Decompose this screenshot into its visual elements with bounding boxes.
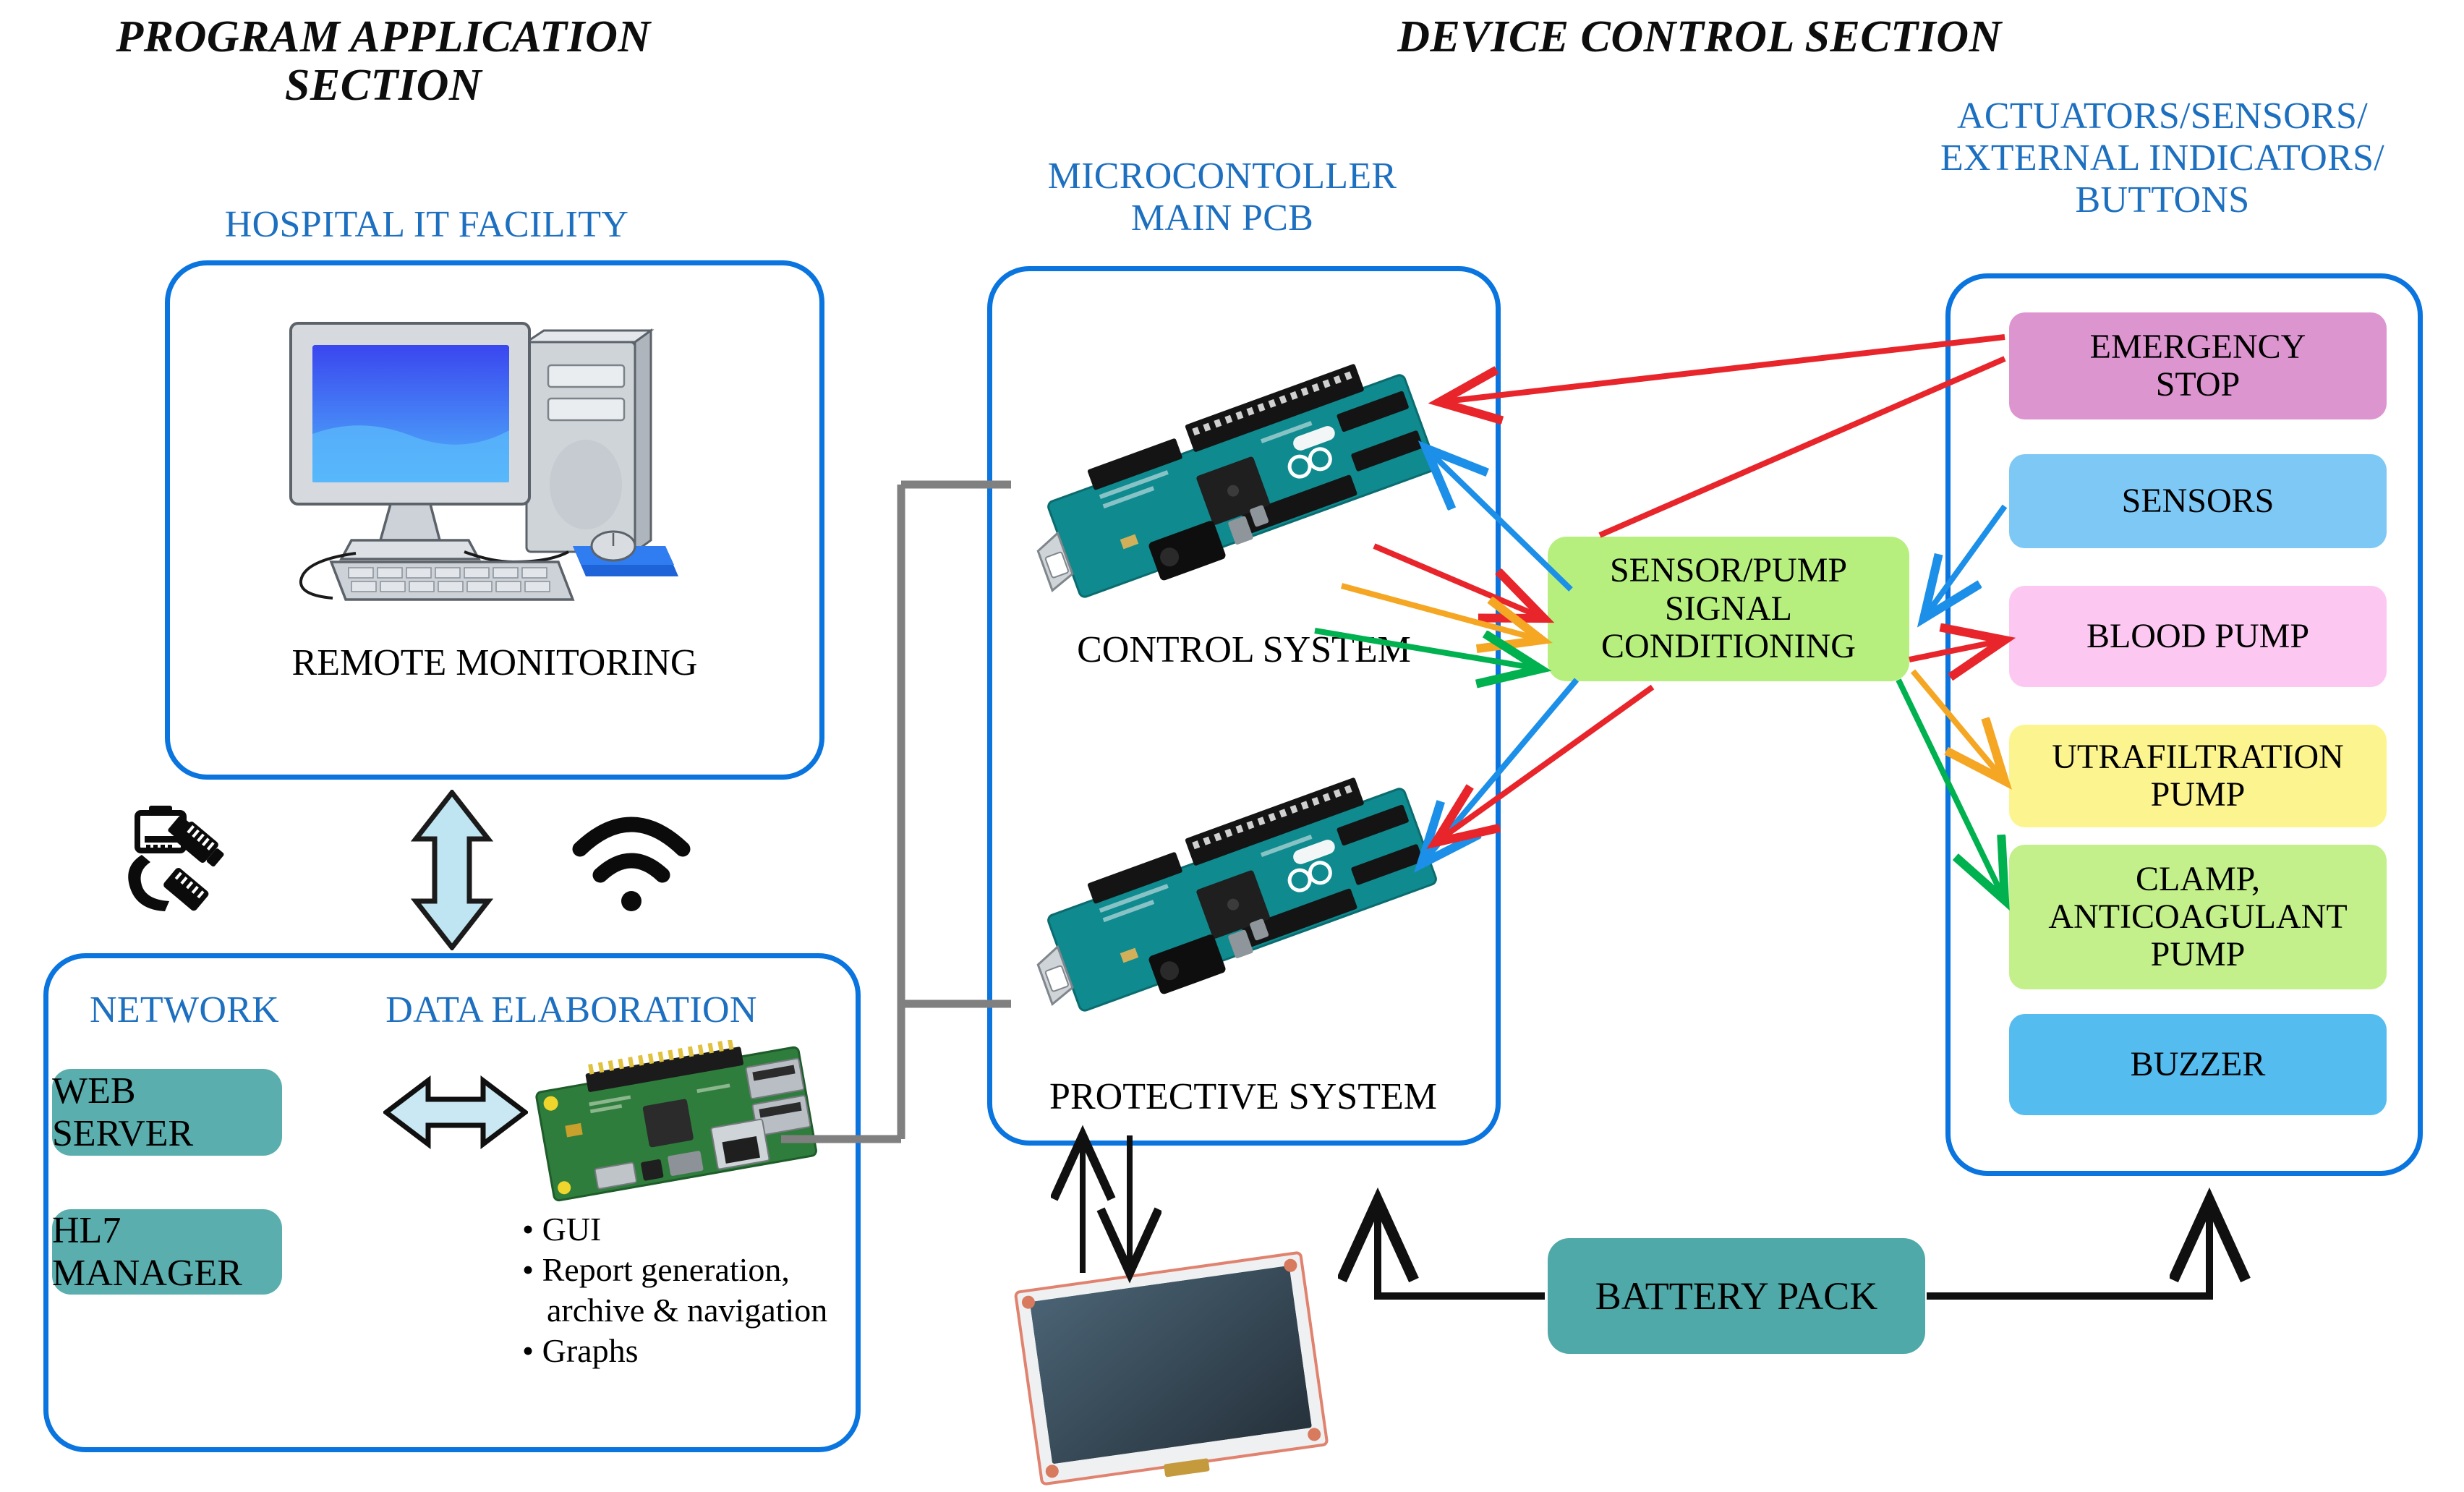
lcd-touchscreen-icon: [1009, 1251, 1334, 1490]
group-title-microcontroller-main-pcb: MICROCONTOLLER MAIN PCB: [962, 155, 1483, 239]
vertical-double-arrow-icon: [407, 790, 497, 950]
section-title-line-1: DEVICE CONTROL SECTION: [1287, 13, 2112, 61]
list-item-continuation: archive & navigation: [522, 1290, 855, 1331]
box-label-line-1: BLOOD PUMP: [2086, 618, 2309, 655]
diagram-canvas: PROGRAM APPLICATION SECTION DEVICE CONTR…: [0, 0, 2464, 1492]
box-web-server[interactable]: WEB SERVER: [52, 1069, 282, 1156]
label-text: CONTROL SYSTEM: [1077, 629, 1411, 670]
box-label-line-1: SENSOR/PUMP: [1601, 552, 1856, 590]
section-title-line-2: SECTION: [72, 61, 694, 110]
group-title-data-elaboration: DATA ELABORATION: [340, 989, 803, 1031]
section-title-program-application: PROGRAM APPLICATION SECTION: [72, 13, 694, 110]
box-label-line-2: SIGNAL: [1601, 590, 1856, 628]
box-label-line-3: PUMP: [2048, 936, 2347, 973]
box-label-line-2: ANTICOAGULANT: [2048, 898, 2347, 936]
box-label-line-1: UTRAFILTRATION: [2052, 738, 2344, 776]
box-emergency-stop[interactable]: EMERGENCY STOP: [2009, 312, 2387, 419]
box-sensor-pump-signal-conditioning[interactable]: SENSOR/PUMP SIGNAL CONDITIONING: [1548, 537, 1909, 681]
box-label: HL7 MANAGER: [52, 1209, 282, 1295]
label-remote-monitoring: REMOTE MONITORING: [165, 642, 824, 683]
box-sensors[interactable]: SENSORS: [2009, 454, 2387, 548]
box-label-line-1: SENSORS: [2122, 482, 2275, 520]
group-title-text: HOSPITAL IT FACILITY: [130, 204, 723, 246]
list-item: • GUI: [522, 1209, 855, 1250]
box-utrafiltration-pump[interactable]: UTRAFILTRATION PUMP: [2009, 725, 2387, 827]
group-title-hospital-it-facility: HOSPITAL IT FACILITY: [130, 204, 723, 246]
horizontal-double-arrow-icon: [383, 1069, 528, 1156]
section-title-line-1: PROGRAM APPLICATION: [72, 13, 694, 61]
arduino-mega-board-icon: [1013, 360, 1461, 599]
box-label: WEB SERVER: [52, 1070, 282, 1155]
label-protective-system: PROTECTIVE SYSTEM: [994, 1076, 1493, 1117]
arrow-emergency-stop-to-control-system: [1439, 337, 2005, 402]
group-title-text: DATA ELABORATION: [340, 989, 803, 1031]
section-title-device-control: DEVICE CONTROL SECTION: [1287, 13, 2112, 61]
list-item-text: archive & navigation: [547, 1292, 827, 1329]
arduino-mega-board-icon: [1013, 774, 1461, 1013]
box-label: BATTERY PACK: [1595, 1274, 1878, 1318]
box-label-line-2: STOP: [2090, 366, 2306, 404]
list-item-text: Report generation,: [542, 1251, 790, 1288]
group-title-line-3: BUTTONS: [1859, 179, 2464, 221]
box-label-line-3: CONDITIONING: [1601, 628, 1856, 666]
box-clamp-anticoagulant-pump[interactable]: CLAMP, ANTICOAGULANT PUMP: [2009, 845, 2387, 989]
group-title-line-1: ACTUATORS/SENSORS/: [1859, 95, 2464, 137]
group-title-line-1: MICROCONTOLLER: [962, 155, 1483, 197]
list-item-text: Graphs: [542, 1332, 639, 1369]
group-title-line-2: EXTERNAL INDICATORS/: [1859, 137, 2464, 179]
connector-battery-to-microcontroller: [1378, 1201, 1545, 1296]
box-blood-pump[interactable]: BLOOD PUMP: [2009, 586, 2387, 687]
ethernet-cable-icon: [122, 804, 263, 920]
label-text: REMOTE MONITORING: [292, 642, 698, 683]
box-battery-pack[interactable]: BATTERY PACK: [1548, 1238, 1925, 1354]
box-label-line-1: BUZZER: [2131, 1046, 2266, 1083]
wifi-icon: [570, 810, 693, 917]
label-control-system: CONTROL SYSTEM: [998, 629, 1490, 670]
group-title-line-2: MAIN PCB: [962, 197, 1483, 239]
label-text: PROTECTIVE SYSTEM: [1049, 1076, 1437, 1117]
desktop-computer-icon: [275, 307, 694, 611]
box-label-line-1: EMERGENCY: [2090, 328, 2306, 366]
group-title-actuators-sensors: ACTUATORS/SENSORS/ EXTERNAL INDICATORS/ …: [1859, 95, 2464, 222]
list-item-text: GUI: [542, 1211, 602, 1248]
raspberry-pi-board-icon: [524, 1040, 828, 1206]
group-title-network: NETWORK: [54, 989, 315, 1031]
list-item: • Graphs: [522, 1331, 855, 1371]
group-title-text: NETWORK: [54, 989, 315, 1031]
box-buzzer[interactable]: BUZZER: [2009, 1014, 2387, 1115]
data-elaboration-bullet-list: • GUI • Report generation, archive & nav…: [522, 1209, 855, 1371]
box-label-line-1: CLAMP,: [2048, 861, 2347, 898]
connector-battery-to-actuators: [1927, 1201, 2209, 1296]
arrow-emergency-stop-to-signal-conditioning: [1600, 359, 2005, 535]
list-item: • Report generation,: [522, 1250, 855, 1290]
box-label-line-2: PUMP: [2052, 776, 2344, 814]
box-hl7-manager[interactable]: HL7 MANAGER: [52, 1209, 282, 1295]
